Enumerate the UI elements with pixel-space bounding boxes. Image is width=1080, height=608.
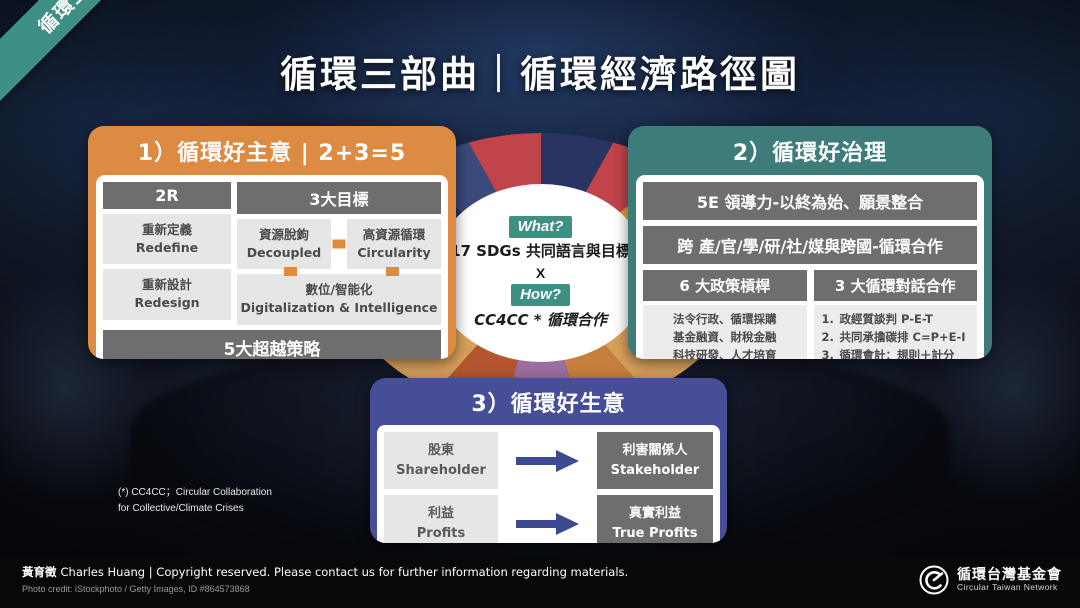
panel1-body: 2R 重新定義 Redefine 重新設計 Redesign 3大目標 資源脫鉤: [96, 175, 448, 359]
panel1-2r-column: 2R 重新定義 Redefine 重新設計 Redesign: [103, 182, 231, 325]
panel2-policy-line-0: 法令行政、循環採購: [647, 311, 803, 329]
page-title: 循環三部曲｜循環經濟路徑圖: [0, 44, 1080, 98]
panel1-2r-item-1-cn: 重新設計: [142, 277, 192, 292]
panel1-2r-item-0: 重新定義 Redefine: [103, 214, 231, 264]
copyright-text: Charles Huang | Copyright reserved. Plea…: [61, 565, 629, 579]
panel2-dialogue-num-1: 2.: [822, 329, 835, 347]
panel1-2r-item-0-en: Redefine: [136, 240, 198, 255]
author-name-cn: 黃育徵: [22, 565, 57, 579]
panel1-goals-top-row: 資源脫鉤 Decoupled 高資源循環 Circularity: [237, 219, 441, 269]
footnote: (*) CC4CC；Circular Collaboration for Col…: [118, 485, 272, 516]
list-item: 1. 政經質談判 P-E-T: [818, 311, 974, 329]
panel3-to-1-cn: 真實利益: [629, 506, 681, 521]
panel1-digital-cn: 數位/智能化: [305, 282, 372, 297]
arrow-right-icon: [502, 432, 593, 489]
panel1-digital-box: 數位/智能化 Digitalization & Intelligence: [237, 274, 441, 324]
panel1-goal-decoupled: 資源脫鉤 Decoupled: [237, 219, 331, 269]
panel2-policy-header: 6 大政策槓桿: [643, 270, 807, 301]
panel1-goals-column: 3大目標 資源脫鉤 Decoupled 高資源循環 Circularity: [237, 182, 441, 325]
panel1-goals-header: 3大目標: [237, 182, 441, 214]
panel1-goal-circularity-cn: 高資源循環: [363, 227, 426, 242]
panel-good-business[interactable]: 3）循環好生意 股東 Shareholder 利害關係人 Stakeholder: [370, 378, 727, 543]
panel3-to-0: 利害關係人 Stakeholder: [597, 432, 713, 489]
panel1-strategy-header: 5大超越策略: [103, 330, 441, 360]
logo-text: 循環台灣基金會 Circular Taiwan Network: [957, 568, 1062, 593]
connector-square-right: [386, 267, 399, 276]
panel2-bar-cross-sector: 跨 產/官/學/研/社/媒與跨國-循環合作: [643, 226, 977, 264]
panel2-columns: 6 大政策槓桿 法令行政、循環採購 基金融資、財稅金融 科技研發、人才培育 3 …: [643, 270, 977, 359]
what-chip: What?: [509, 216, 573, 238]
panel1-digital-en: Digitalization & Intelligence: [240, 300, 437, 315]
panel3-row-shareholder: 股東 Shareholder 利害關係人 Stakeholder: [384, 432, 713, 489]
panel3-from-1-cn: 利益: [428, 506, 454, 521]
footnote-line-1: (*) CC4CC；Circular Collaboration: [118, 485, 272, 501]
panel2-policy-column: 6 大政策槓桿 法令行政、循環採購 基金融資、財稅金融 科技研發、人才培育: [643, 270, 807, 359]
panel2-policy-line-2: 科技研發、人才培育: [647, 347, 803, 359]
panel2-dialogue-num-0: 1.: [822, 311, 835, 329]
panel2-dialogue-text-0: 政經質談判 P-E-T: [840, 311, 933, 329]
list-item: 2. 共同承擔碳排 C=P+E-I: [818, 329, 974, 347]
panel2-bar-5e: 5E 領導力-以終為始、願景整合: [643, 182, 977, 220]
panel1-header: 1）循環好主意 | 2+3=5: [88, 126, 456, 175]
footnote-line-2: for Collective/Climate Crises: [118, 501, 272, 517]
panel3-to-1-en: True Profits: [613, 526, 698, 541]
logo-name-cn: 循環台灣基金會: [957, 568, 1062, 583]
panel2-dialogue-header: 3 大循環對話合作: [814, 270, 978, 301]
panel2-dialogue-text-2: 循環會計：規則＋計分: [840, 347, 955, 359]
panel3-to-0-en: Stakeholder: [611, 463, 700, 478]
panel2-dialogue-body: 1. 政經質談判 P-E-T 2. 共同承擔碳排 C=P+E-I 3. 循環會計…: [814, 305, 978, 359]
panel3-body: 股東 Shareholder 利害關係人 Stakeholder 利益 Prof…: [377, 425, 720, 543]
panel3-to-1: 真實利益 True Profits: [597, 495, 713, 543]
panel-good-governance[interactable]: 2）循環好治理 5E 領導力-以終為始、願景整合 跨 產/官/學/研/社/媒與跨…: [628, 126, 992, 359]
panel2-dialogue-text-1: 共同承擔碳排 C=P+E-I: [840, 329, 966, 347]
panel3-header: 3）循環好生意: [370, 378, 727, 425]
panel3-row-profits: 利益 Profits 真實利益 True Profits: [384, 495, 713, 543]
panel2-dialogue-num-2: 3.: [822, 347, 835, 359]
panel1-2r-header: 2R: [103, 182, 231, 209]
sdg-wheel-center: What? 17 SDGs 共同語言與目標 X How? CC4CC * 循環合…: [433, 184, 649, 362]
panel3-from-0: 股東 Shareholder: [384, 432, 498, 489]
panel3-from-0-en: Shareholder: [396, 463, 486, 478]
panel2-header: 2）循環好治理: [628, 126, 992, 175]
connector-square-left: [284, 267, 297, 276]
panel3-from-0-cn: 股東: [428, 443, 454, 458]
panel3-to-0-cn: 利害關係人: [622, 443, 687, 458]
list-item: 3. 循環會計：規則＋計分: [818, 347, 974, 359]
panel1-goal-circularity-en: Circularity: [357, 245, 430, 260]
panel1-2r-item-0-cn: 重新定義: [142, 222, 192, 237]
how-chip: How?: [511, 284, 570, 306]
arrow-right-icon: [502, 495, 593, 543]
panel1-goal-circularity: 高資源循環 Circularity: [347, 219, 441, 269]
bottom-bar: 黃育徵 Charles Huang | Copyright reserved. …: [0, 556, 1080, 608]
slide: 循環三部曲 循環三部曲｜循環經濟路徑圖 What? 17 SDGs 共同語言與目…: [0, 0, 1080, 608]
panel3-from-1: 利益 Profits: [384, 495, 498, 543]
circular-logo-icon: [919, 565, 949, 595]
what-text: 17 SDGs 共同語言與目標: [450, 241, 631, 262]
panel1-columns: 2R 重新定義 Redefine 重新設計 Redesign 3大目標 資源脫鉤: [103, 182, 441, 325]
panel1-goal-decoupled-en: Decoupled: [247, 245, 321, 260]
panel2-body: 5E 領導力-以終為始、願景整合 跨 產/官/學/研/社/媒與跨國-循環合作 6…: [636, 175, 984, 359]
operator-x: X: [536, 265, 545, 281]
photo-credit: Photo credit: iStockphoto / Getty Images…: [22, 584, 250, 594]
panel1-2r-item-1-en: Redesign: [134, 295, 199, 310]
panel2-dialogue-column: 3 大循環對話合作 1. 政經質談判 P-E-T 2. 共同承擔碳排 C=P+E…: [814, 270, 978, 359]
copyright-line: 黃育徵 Charles Huang | Copyright reserved. …: [22, 564, 628, 580]
panel-good-ideas[interactable]: 1）循環好主意 | 2+3=5 2R 重新定義 Redefine 重新設計 Re…: [88, 126, 456, 359]
panel2-policy-line-1: 基金融資、財稅金融: [647, 329, 803, 347]
organization-logo: 循環台灣基金會 Circular Taiwan Network: [919, 565, 1062, 595]
panel1-2r-item-1: 重新設計 Redesign: [103, 269, 231, 319]
logo-name-en: Circular Taiwan Network: [957, 583, 1062, 592]
panel2-policy-body: 法令行政、循環採購 基金融資、財稅金融 科技研發、人才培育: [643, 305, 807, 359]
panel3-from-1-en: Profits: [417, 526, 465, 541]
how-text: CC4CC * 循環合作: [474, 309, 607, 330]
panel1-goal-decoupled-cn: 資源脫鉤: [259, 227, 309, 242]
connector-square-middle: [333, 240, 346, 249]
